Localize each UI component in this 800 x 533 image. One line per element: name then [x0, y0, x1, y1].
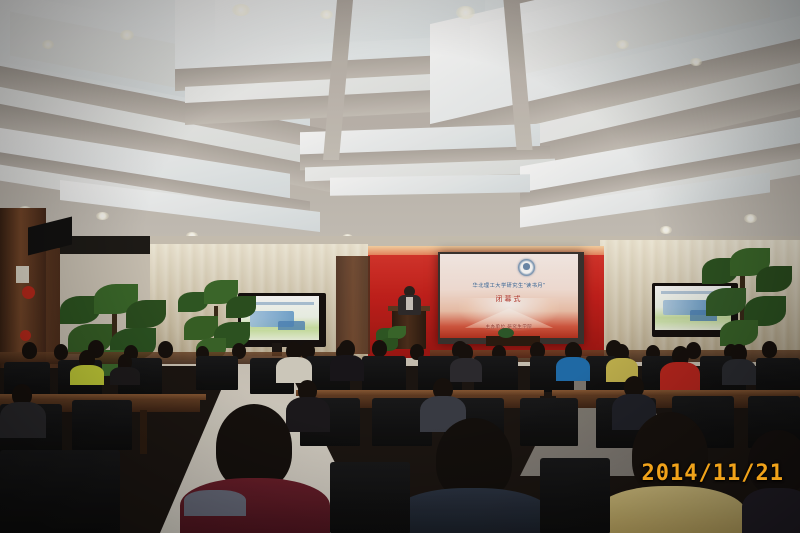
audience-member: [70, 350, 104, 384]
ceiling-downlight: [232, 4, 250, 16]
fire-alarm-bell: [22, 286, 35, 299]
audience-member: [110, 354, 140, 384]
camera-datestamp: 2014/11/21: [642, 461, 784, 486]
audience-member: [450, 344, 482, 382]
ceiling-downlight: [120, 30, 134, 40]
foreground-person-blue: [392, 418, 552, 533]
ceiling-downlight: [660, 226, 672, 234]
audience-member-red-hoodie: [660, 346, 700, 392]
slide-title: 华北理工大学研究生"读书月": [440, 282, 578, 289]
auditorium-chair: [196, 356, 238, 390]
ceiling-downlight: [456, 6, 475, 19]
auditorium-chair: [330, 462, 410, 533]
ceiling-downlight: [616, 40, 629, 49]
presentation-slide: 华北理工大学研究生"读书月" 闭幕式 主办单位 研究生学院: [440, 254, 578, 338]
wall-sign: [16, 266, 29, 283]
auditorium-chair: [540, 458, 610, 533]
auditorium-chair: [72, 400, 132, 450]
audience-member: [276, 342, 312, 382]
audience-member: [722, 344, 756, 384]
university-emblem: [518, 259, 535, 276]
slide-subtitle: 闭幕式: [440, 294, 578, 304]
coffered-ceiling: [0, 0, 800, 250]
ceiling-downlight: [42, 40, 54, 49]
lecture-hall-photo: 华北理工大学研究生"读书月" 闭幕式 主办单位 研究生学院: [0, 0, 800, 533]
ceiling-downlight: [96, 212, 109, 220]
ceiling-downlight: [744, 214, 757, 223]
presenter-at-podium: [396, 286, 422, 312]
ceiling-downlight: [690, 58, 702, 66]
audience-member: [556, 342, 590, 380]
auditorium-chair: [362, 356, 406, 392]
auditorium-chair: [0, 450, 120, 533]
foreground-person-maroon: [180, 404, 330, 533]
ceiling-downlight: [320, 10, 333, 19]
audience-member: [0, 384, 46, 438]
audience-member: [330, 340, 364, 380]
